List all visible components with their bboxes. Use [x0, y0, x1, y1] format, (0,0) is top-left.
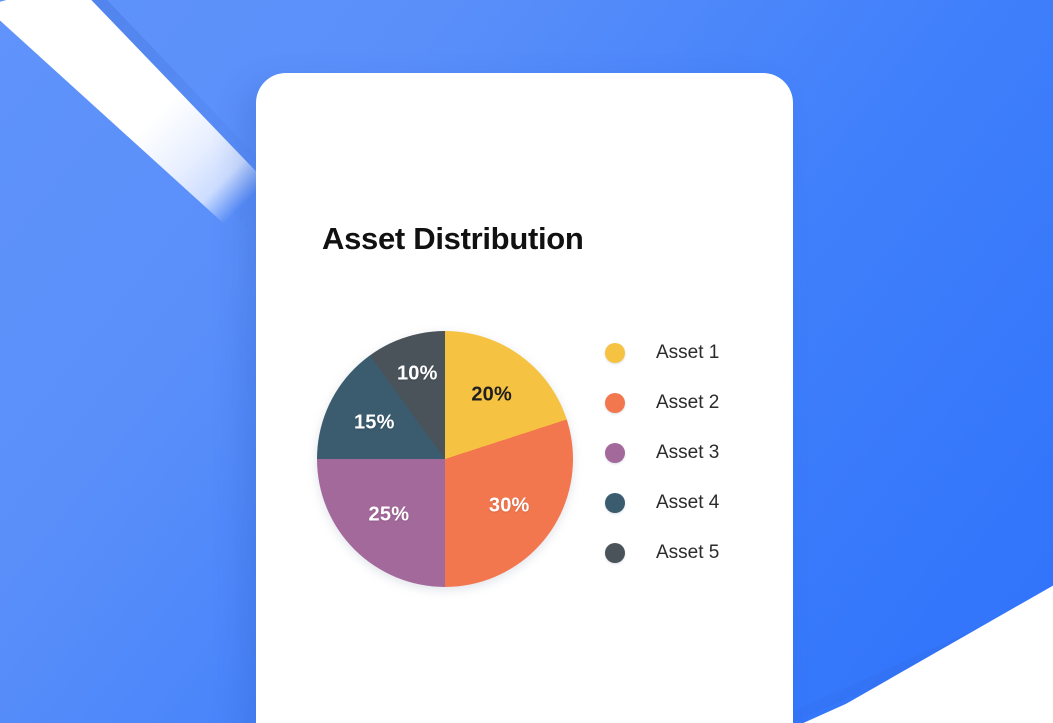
legend-color-dot-icon [605, 493, 625, 513]
legend-item-label: Asset 2 [656, 392, 719, 414]
legend-item[interactable]: Asset 1 [605, 328, 775, 378]
pie-chart: 20%30%25%15%10% [317, 331, 573, 587]
pie-disc[interactable] [317, 331, 573, 587]
legend-color-dot-icon [605, 543, 625, 563]
legend-item-label: Asset 4 [656, 492, 719, 514]
legend-item[interactable]: Asset 4 [605, 478, 775, 528]
page-title: Asset Distribution [322, 221, 584, 257]
legend-item[interactable]: Asset 5 [605, 528, 775, 578]
legend-color-dot-icon [605, 393, 625, 413]
legend-color-dot-icon [605, 343, 625, 363]
content-card: Asset Distribution 20%30%25%15%10% Asset… [256, 73, 793, 723]
legend-item-label: Asset 5 [656, 542, 719, 564]
legend-item-label: Asset 1 [656, 342, 719, 364]
legend-item[interactable]: Asset 2 [605, 378, 775, 428]
legend-item[interactable]: Asset 3 [605, 428, 775, 478]
slide-stage: Asset Distribution 20%30%25%15%10% Asset… [0, 0, 1053, 723]
chart-legend: Asset 1Asset 2Asset 3Asset 4Asset 5 [605, 328, 775, 578]
legend-color-dot-icon [605, 443, 625, 463]
legend-item-label: Asset 3 [656, 442, 719, 464]
